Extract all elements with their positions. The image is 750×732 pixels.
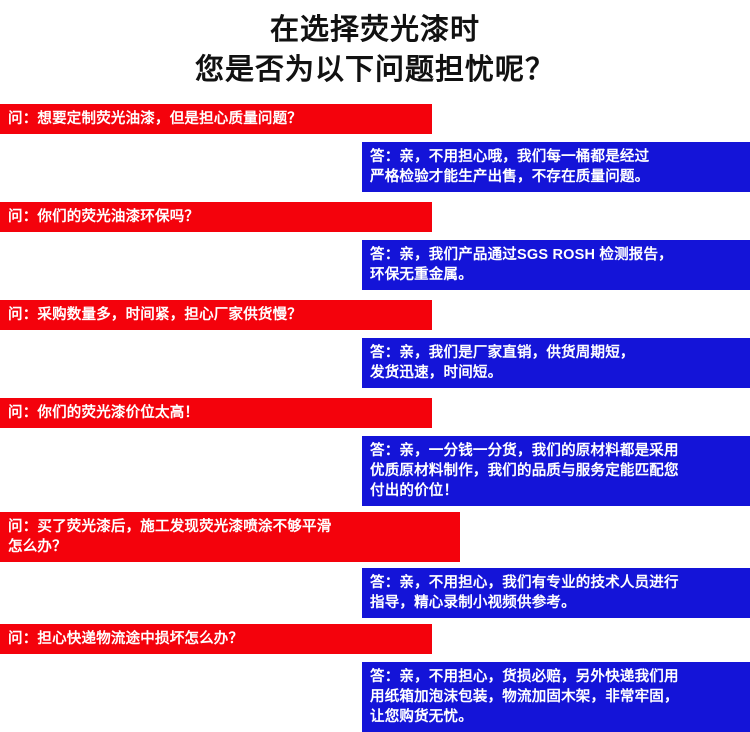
faq-list: 问：想要定制荧光油漆，但是担心质量问题？ 答：亲，不用担心哦，我们每一桶都是经过…: [0, 104, 750, 732]
question-bar: 问：想要定制荧光油漆，但是担心质量问题？: [0, 104, 432, 134]
answer-line: 付出的价位！: [370, 481, 744, 501]
answer-bar: 答：亲，一分钱一分货，我们的原材料都是采用 优质原材料制作，我们的品质与服务定能…: [362, 436, 750, 506]
faq-item: 问：想要定制荧光油漆，但是担心质量问题？ 答：亲，不用担心哦，我们每一桶都是经过…: [0, 104, 750, 202]
answer-line: 优质原材料制作，我们的品质与服务定能匹配您: [370, 461, 744, 481]
question-bar: 问：你们的荧光油漆环保吗？: [0, 202, 432, 232]
question-text: 问：担心快递物流途中损坏怎么办？: [8, 629, 428, 649]
spacer: [0, 290, 750, 300]
spacer: [0, 330, 750, 338]
question-bar: 问：采购数量多，时间紧，担心厂家供货慢？: [0, 300, 432, 330]
answer-line: 答：亲，不用担心，我们有专业的技术人员进行: [370, 573, 744, 593]
answer-line: 用纸箱加泡沫包装，物流加固木架，非常牢固，: [370, 687, 744, 707]
question-text: 问：你们的荧光漆价位太高！: [8, 403, 428, 423]
spacer: [0, 134, 750, 142]
question-bar: 问：担心快递物流途中损坏怎么办？: [0, 624, 432, 654]
answer-bar: 答：亲，不用担心哦，我们每一桶都是经过 严格检验才能生产出售，不存在质量问题。: [362, 142, 750, 192]
answer-line: 指导，精心录制小视频供参考。: [370, 593, 744, 613]
answer-line: 答：亲，一分钱一分货，我们的原材料都是采用: [370, 441, 744, 461]
answer-bar: 答：亲，不用担心，我们有专业的技术人员进行 指导，精心录制小视频供参考。: [362, 568, 750, 618]
question-bar: 问：你们的荧光漆价位太高！: [0, 398, 432, 428]
faq-item: 问：担心快递物流途中损坏怎么办？ 答：亲，不用担心，货损必赔，另外快递我们用 用…: [0, 624, 750, 732]
faq-item: 问：你们的荧光油漆环保吗？ 答：亲，我们产品通过SGS ROSH 检测报告， 环…: [0, 202, 750, 300]
answer-line: 答：亲，我们是厂家直销，供货周期短，: [370, 343, 744, 363]
faq-item: 问：采购数量多，时间紧，担心厂家供货慢？ 答：亲，我们是厂家直销，供货周期短， …: [0, 300, 750, 398]
answer-line: 答：亲，我们产品通过SGS ROSH 检测报告，: [370, 245, 744, 265]
question-text: 问：买了荧光漆后，施工发现荧光漆喷涂不够平滑: [8, 517, 456, 537]
spacer: [0, 388, 750, 398]
question-text: 怎么办？: [8, 537, 456, 557]
title-line-1: 在选择荧光漆时: [0, 10, 750, 50]
answer-line: 严格检验才能生产出售，不存在质量问题。: [370, 167, 744, 187]
answer-bar: 答：亲，我们产品通过SGS ROSH 检测报告， 环保无重金属。: [362, 240, 750, 290]
spacer: [0, 428, 750, 436]
faq-item: 问：你们的荧光漆价位太高！ 答：亲，一分钱一分货，我们的原材料都是采用 优质原材…: [0, 398, 750, 512]
answer-line: 发货迅速，时间短。: [370, 363, 744, 383]
answer-bar: 答：亲，我们是厂家直销，供货周期短， 发货迅速，时间短。: [362, 338, 750, 388]
title-line-2: 您是否为以下问题担忧呢？: [0, 50, 750, 90]
answer-line: 让您购货无忧。: [370, 707, 744, 727]
faq-item: 问：买了荧光漆后，施工发现荧光漆喷涂不够平滑 怎么办？ 答：亲，不用担心，我们有…: [0, 512, 750, 624]
promo-faq-page: 在选择荧光漆时 您是否为以下问题担忧呢？ 问：想要定制荧光油漆，但是担心质量问题…: [0, 0, 750, 610]
question-text: 问：想要定制荧光油漆，但是担心质量问题？: [8, 109, 428, 129]
spacer: [0, 654, 750, 662]
answer-bar: 答：亲，不用担心，货损必赔，另外快递我们用 用纸箱加泡沫包装，物流加固木架，非常…: [362, 662, 750, 732]
spacer: [0, 232, 750, 240]
question-text: 问：你们的荧光油漆环保吗？: [8, 207, 428, 227]
question-text: 问：采购数量多，时间紧，担心厂家供货慢？: [8, 305, 428, 325]
answer-line: 答：亲，不用担心哦，我们每一桶都是经过: [370, 147, 744, 167]
page-title: 在选择荧光漆时 您是否为以下问题担忧呢？: [0, 0, 750, 90]
answer-line: 答：亲，不用担心，货损必赔，另外快递我们用: [370, 667, 744, 687]
answer-line: 环保无重金属。: [370, 265, 744, 285]
question-bar: 问：买了荧光漆后，施工发现荧光漆喷涂不够平滑 怎么办？: [0, 512, 460, 562]
spacer: [0, 192, 750, 202]
